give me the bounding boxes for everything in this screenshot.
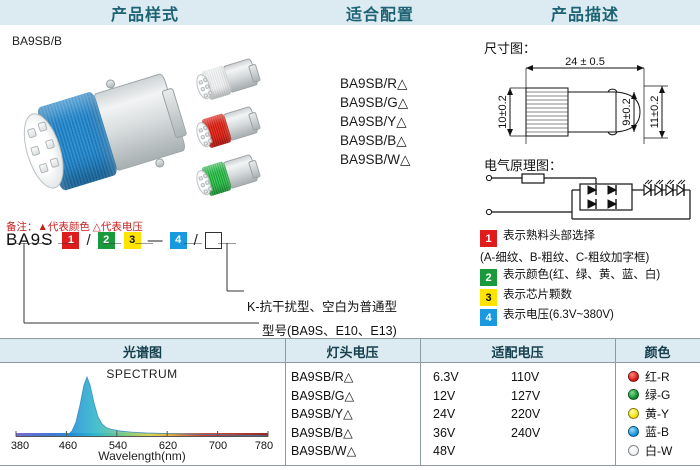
- datasheet-page: 产品样式 适合配置 产品描述 BA9SB/B: [0, 0, 700, 466]
- spectrum-chart: SPECTRUM: [6, 365, 278, 465]
- color-row-yellow: 黄-Y: [628, 404, 672, 423]
- specification-table-header: 光谱图 灯头电压 适配电压 颜色: [0, 339, 700, 363]
- color-dot-white: [628, 445, 639, 456]
- spectrum-x-axis-label: Wavelength(nm): [6, 449, 278, 463]
- header-configuration: 适合配置: [290, 0, 470, 26]
- legend-text-3: 表示芯片颗数: [503, 289, 572, 303]
- column-header-band: 产品样式 适合配置 产品描述: [0, 0, 700, 26]
- table-column-adapt-voltage: 110V 127V 220V 240V: [511, 368, 540, 442]
- bulb-pin: [154, 157, 165, 168]
- specification-table-body: SPECTRUM: [0, 363, 700, 466]
- table-model-2: BA9SB/Y△: [291, 405, 356, 424]
- table-column-lamp-voltage: 6.3V 12V 24V 36V 48V: [433, 368, 459, 461]
- config-model-3: BA9SB/B△: [340, 131, 410, 150]
- adapt-voltage-2: 220V: [511, 405, 540, 424]
- product-photo-small-white-bulb: [192, 53, 265, 105]
- legend-chip-4: 4: [480, 309, 497, 326]
- color-label-white: 白-W: [645, 442, 672, 459]
- table-header-adapt-voltage: 适配电压: [420, 339, 615, 363]
- adapt-voltage-1: 127V: [511, 387, 540, 406]
- legend-subtext-1: (A-细纹、B-粗纹、C-粗纹加字框): [480, 249, 700, 265]
- table-column-models: BA9SB/R△ BA9SB/G△ BA9SB/Y△ BA9SB/B△ BA9S…: [291, 368, 356, 461]
- product-model-label: BA9SB/B: [12, 34, 62, 48]
- color-label-blue: 蓝-B: [645, 423, 669, 440]
- legend-chip-3: 3: [480, 289, 497, 306]
- color-row-red: 红-R: [628, 367, 672, 386]
- dimension-right-height-text: 11±0.2: [649, 96, 661, 129]
- callout-k-type: K-抗干扰型、空白为普通型: [247, 296, 397, 315]
- color-label-yellow: 黄-Y: [645, 405, 669, 422]
- table-header-spectrum: 光谱图: [0, 339, 285, 363]
- color-dot-yellow: [628, 408, 639, 419]
- table-model-4: BA9SB/W△: [291, 442, 356, 461]
- dimension-inner-height-text: 9±0.2: [621, 98, 633, 125]
- table-model-0: BA9SB/R△: [291, 368, 356, 387]
- lamp-voltage-1: 12V: [433, 387, 459, 406]
- color-row-blue: 蓝-B: [628, 423, 672, 442]
- dimension-length-text: 24 ± 0.5: [565, 56, 605, 68]
- legend-text-1: 表示熟料头部选择: [503, 230, 595, 244]
- table-header-lamp-voltage: 灯头电压: [285, 339, 420, 363]
- header-description: 产品描述: [470, 0, 700, 26]
- spectrum-chart-title: SPECTRUM: [6, 367, 278, 381]
- legend-item-4: 4 表示电压(6.3V~380V): [480, 309, 700, 326]
- legend-text-4: 表示电压(6.3V~380V): [503, 309, 614, 323]
- color-label-green: 绿-G: [645, 386, 670, 403]
- color-dot-blue: [628, 426, 639, 437]
- config-model-2: BA9SB/Y△: [340, 112, 410, 131]
- table-model-3: BA9SB/B△: [291, 424, 356, 443]
- config-model-1: BA9SB/G△: [340, 93, 410, 112]
- electrical-schematic: [484, 172, 696, 220]
- specification-table: 光谱图 灯头电压 适配电压 颜色 SPECTRUM: [0, 338, 700, 466]
- color-label-red: 红-R: [645, 368, 670, 385]
- adapt-voltage-0: 110V: [511, 368, 540, 387]
- configuration-model-list: BA9SB/R△ BA9SB/G△ BA9SB/Y△ BA9SB/B△ BA9S…: [340, 74, 410, 169]
- table-header-color: 颜色: [615, 339, 700, 363]
- config-model-4: BA9SB/W△: [340, 150, 410, 169]
- table-column-colors: 红-R 绿-G 黄-Y 蓝-B 白-W: [628, 367, 672, 460]
- product-photo-small-red-bulb: [192, 101, 265, 153]
- lamp-voltage-3: 36V: [433, 424, 459, 443]
- legend-item-3: 3 表示芯片颗数: [480, 289, 700, 306]
- adapt-voltage-3: 240V: [511, 424, 540, 443]
- legend-item-1: 1 表示熟料头部选择: [480, 230, 700, 247]
- color-dot-red: [628, 371, 639, 382]
- lamp-voltage-4: 48V: [433, 442, 459, 461]
- dimension-left-height-text: 10±0.2: [497, 95, 509, 129]
- part-code-legend: 1 表示熟料头部选择 (A-细纹、B-粗纹、C-粗纹加字框) 2 表示颜色(红、…: [480, 230, 700, 329]
- lamp-voltage-0: 6.3V: [433, 368, 459, 387]
- callout-model: 型号(BA9S、E10、E13): [262, 320, 397, 339]
- legend-item-2: 2 表示颜色(红、绿、黄、蓝、白): [480, 269, 700, 286]
- color-row-green: 绿-G: [628, 386, 672, 405]
- legend-chip-2: 2: [480, 269, 497, 286]
- table-model-1: BA9SB/G△: [291, 387, 356, 406]
- color-row-white: 白-W: [628, 441, 672, 460]
- header-product-style: 产品样式: [0, 0, 290, 26]
- config-model-0: BA9SB/R△: [340, 74, 410, 93]
- legend-chip-1: 1: [480, 230, 497, 247]
- product-photo-large-blue-bulb: [12, 56, 206, 209]
- dimension-drawing: 24 ± 0.5 10±0.2: [484, 56, 694, 148]
- lamp-voltage-2: 24V: [433, 405, 459, 424]
- color-dot-green: [628, 389, 639, 400]
- dimension-drawing-title: 尺寸图：: [484, 38, 536, 57]
- legend-text-2: 表示颜色(红、绿、黄、蓝、白): [503, 269, 660, 283]
